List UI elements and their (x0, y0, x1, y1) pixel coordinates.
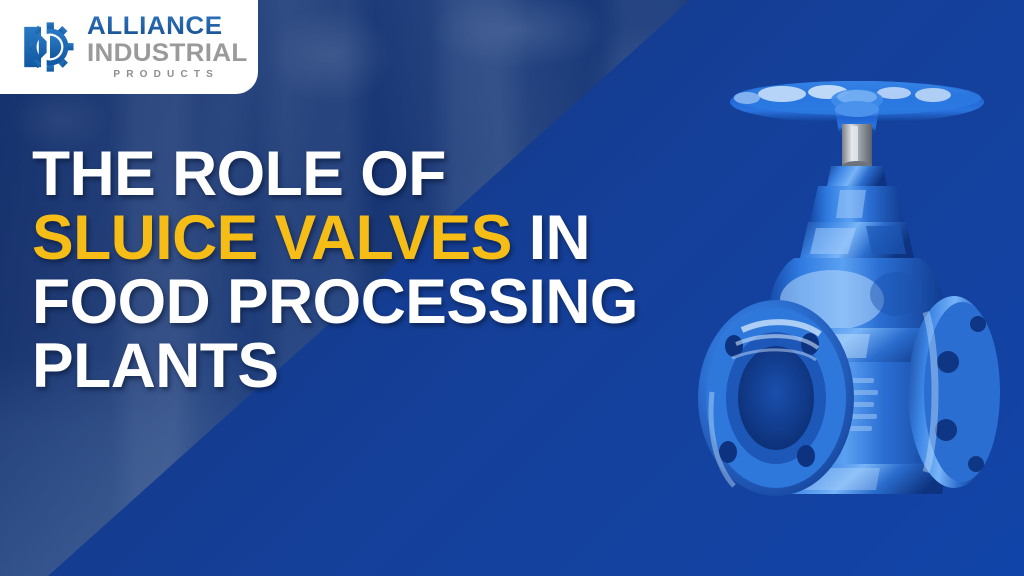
valve-bonnet (800, 166, 914, 258)
brand-name-tertiary: PRODUCTS (87, 70, 241, 80)
product-image-sluice-valve (690, 62, 1024, 532)
headline-block: THE ROLE OF SLUICE VALVES IN FOOD PROCES… (32, 142, 732, 398)
headline-line-2-rest: IN (512, 203, 590, 273)
valve-stem (842, 124, 872, 171)
brand-logo[interactable]: ALLIANCE INDUSTRIAL PRODUCTS (0, 0, 258, 94)
headline-line-2: SLUICE VALVES IN (32, 206, 725, 270)
valve-inlet-flange (698, 300, 854, 496)
headline-line-3: FOOD PROCESSING (32, 270, 725, 334)
brand-name-primary: ALLIANCE (87, 14, 248, 39)
gear-cog-icon (22, 19, 78, 75)
brand-wordmark: ALLIANCE INDUSTRIAL PRODUCTS (87, 14, 241, 80)
headline-accent-text: SLUICE VALVES (32, 203, 512, 273)
headline-line-1: THE ROLE OF (32, 142, 725, 206)
brand-name-secondary: INDUSTRIAL (87, 41, 248, 66)
headline-line-4: PLANTS (32, 334, 725, 398)
promotional-banner: ALLIANCE INDUSTRIAL PRODUCTS THE ROLE OF… (0, 0, 1024, 576)
valve-outlet-flange (908, 296, 1000, 488)
